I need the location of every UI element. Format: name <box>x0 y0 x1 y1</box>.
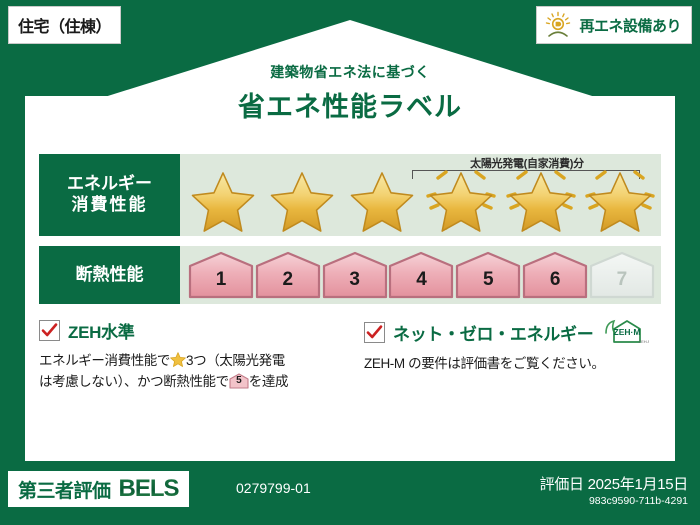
bels-en-label: BELS <box>119 475 179 503</box>
bels-jp-label: 第三者評価 <box>18 476 111 503</box>
main-card: 建築物省エネ法に基づく 省エネ性能ラベル エネルギー 消費性能 太陽光発電(自家… <box>25 96 675 461</box>
label-subtitle: 建築物省エネ法に基づく <box>25 62 675 82</box>
page-title: 省エネ性能ラベル <box>25 85 675 124</box>
zeh-criterion: ZEH水準 エネルギー消費性能で3つ（太陽光発電は考慮しない）、かつ断熱性能で5… <box>39 318 350 438</box>
netzero-description: ZEH-M の要件は評価書をご覧ください。 <box>364 354 655 375</box>
insulation-level-number: 1 <box>188 270 254 289</box>
insulation-performance-row: 断熱性能 1234567 <box>39 246 661 304</box>
bels-number: 0279799-01 <box>236 480 311 496</box>
insulation-level-4: 4 <box>388 251 454 299</box>
zeh-checkbox[interactable] <box>39 320 60 341</box>
footer: 第三者評価 BELS 0279799-01 評価日 2025年1月15日 983… <box>0 461 700 525</box>
zeh-description: エネルギー消費性能で3つ（太陽光発電は考慮しない）、かつ断熱性能で5を達成 <box>39 351 344 393</box>
insulation-level-number: 4 <box>388 270 454 289</box>
insulation-level-3: 3 <box>322 251 388 299</box>
zeh-heading: ZEH水準 <box>39 318 344 343</box>
netzero-criterion: ネット・ゼロ・エネルギー ZEH·M ZEH-M ZEH-M の要件は評価書をご… <box>350 318 661 438</box>
title-block: 建築物省エネ法に基づく 省エネ性能ラベル <box>25 62 675 124</box>
solar-sun-icon <box>543 11 573 39</box>
check-icon <box>366 324 383 341</box>
energy-label-line2: 消費性能 <box>72 195 148 216</box>
star-1 <box>186 172 260 234</box>
energy-rating-area: 太陽光発電(自家消費)分 <box>180 154 661 236</box>
star-icon <box>585 171 655 233</box>
netzero-checkbox[interactable] <box>364 322 385 343</box>
zeh-text-part2: は考慮しない）、かつ断熱性能で <box>39 374 229 389</box>
insulation-level-1: 1 <box>188 251 254 299</box>
insulation-level-6: 6 <box>522 251 588 299</box>
svg-text:ZEH·M: ZEH·M <box>614 327 641 337</box>
zeh-text-star: 3つ（太陽光発電 <box>186 353 285 368</box>
insulation-label: 断熱性能 <box>76 265 144 286</box>
evaluation-date: 評価日 2025年1月15日 <box>540 473 688 494</box>
star-4 <box>424 172 498 234</box>
svg-text:ZEH-M: ZEH-M <box>639 339 649 344</box>
energy-performance-label: 住宅（住棟） 再エネ設備あり 建築物省エネ法に基づく 省エネ性能ラベル <box>0 0 700 525</box>
star-5 <box>504 172 578 234</box>
star-6 <box>583 172 657 234</box>
star-icon <box>347 171 417 233</box>
insulation-level-5: 5 <box>455 251 521 299</box>
star-3 <box>345 172 419 234</box>
house-type-label: 住宅（住棟） <box>18 13 111 37</box>
zeh-text-part3: を達成 <box>249 374 288 389</box>
energy-performance-label-box: エネルギー 消費性能 <box>39 154 180 236</box>
star-icon <box>267 171 337 233</box>
evaluation-id: 983c9590-711b-4291 <box>589 495 688 507</box>
zeh-title: ZEH水準 <box>68 318 135 343</box>
bels-badge: 第三者評価 BELS <box>8 471 189 507</box>
inline-house-number: 5 <box>229 376 249 386</box>
renewable-equipment-label: 再エネ設備あり <box>579 15 681 36</box>
netzero-heading: ネット・ゼロ・エネルギー ZEH·M ZEH-M <box>364 318 655 346</box>
inline-star-icon <box>170 352 186 367</box>
insulation-level-2: 2 <box>255 251 321 299</box>
netzero-title: ネット・ゼロ・エネルギー <box>393 320 593 345</box>
insulation-level-scale: 1234567 <box>188 250 655 300</box>
star-2 <box>265 172 339 234</box>
insulation-level-number: 2 <box>255 270 321 289</box>
star-icon <box>506 171 576 233</box>
insulation-rating-area: 1234567 <box>180 246 661 304</box>
inline-house-badge: 5 <box>229 373 249 389</box>
insulation-level-number: 7 <box>589 270 655 289</box>
zeh-text-part1: エネルギー消費性能で <box>39 353 170 368</box>
solar-caption: 太陽光発電(自家消費)分 <box>402 155 652 171</box>
star-icon <box>426 171 496 233</box>
renewable-equipment-badge: 再エネ設備あり <box>536 6 692 44</box>
energy-performance-row: エネルギー 消費性能 太陽光発電(自家消費)分 <box>39 154 661 236</box>
insulation-level-number: 6 <box>522 270 588 289</box>
check-icon <box>41 322 58 339</box>
criteria-section: ZEH水準 エネルギー消費性能で3つ（太陽光発電は考慮しない）、かつ断熱性能で5… <box>39 318 661 438</box>
zeh-m-logo-icon: ZEH·M ZEH-M <box>603 318 649 346</box>
insulation-level-7: 7 <box>589 251 655 299</box>
insulation-performance-label-box: 断熱性能 <box>39 246 180 304</box>
insulation-level-number: 5 <box>455 270 521 289</box>
star-rating <box>186 172 657 234</box>
energy-label-line1: エネルギー <box>67 174 152 195</box>
star-icon <box>188 171 258 233</box>
house-type-badge: 住宅（住棟） <box>8 6 121 44</box>
insulation-level-number: 3 <box>322 270 388 289</box>
